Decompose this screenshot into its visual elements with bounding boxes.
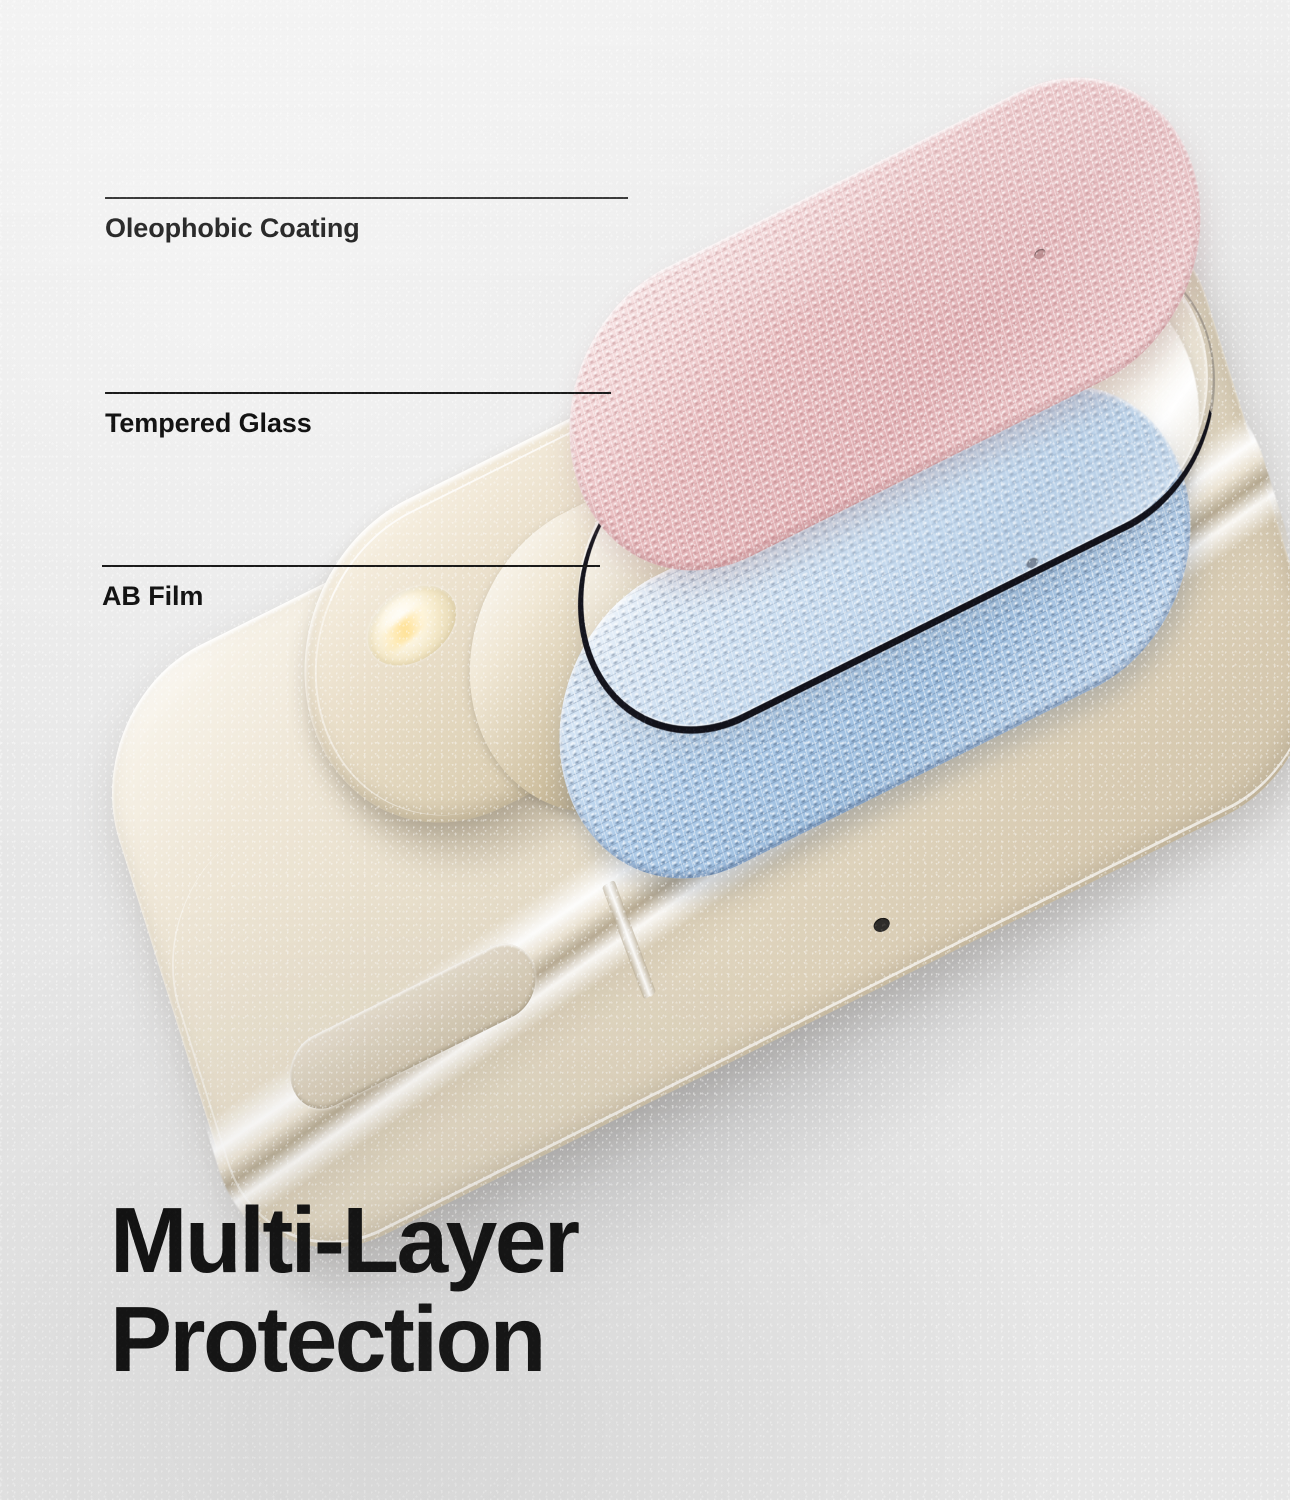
headline-line-1: Multi-Layer [110, 1195, 577, 1286]
product-hero-stage: Oleophobic Coating Tempered Glass AB Fil… [0, 0, 1290, 1500]
callout-label: Oleophobic Coating [105, 213, 360, 244]
headline-line-2: Protection [110, 1294, 577, 1385]
headline: Multi-Layer Protection [110, 1195, 577, 1385]
callout-label: AB Film [102, 581, 203, 612]
callout-leader-line [102, 565, 600, 567]
callout-leader-line [105, 197, 628, 199]
callout-label: Tempered Glass [105, 408, 312, 439]
callout-leader-line [105, 392, 611, 394]
